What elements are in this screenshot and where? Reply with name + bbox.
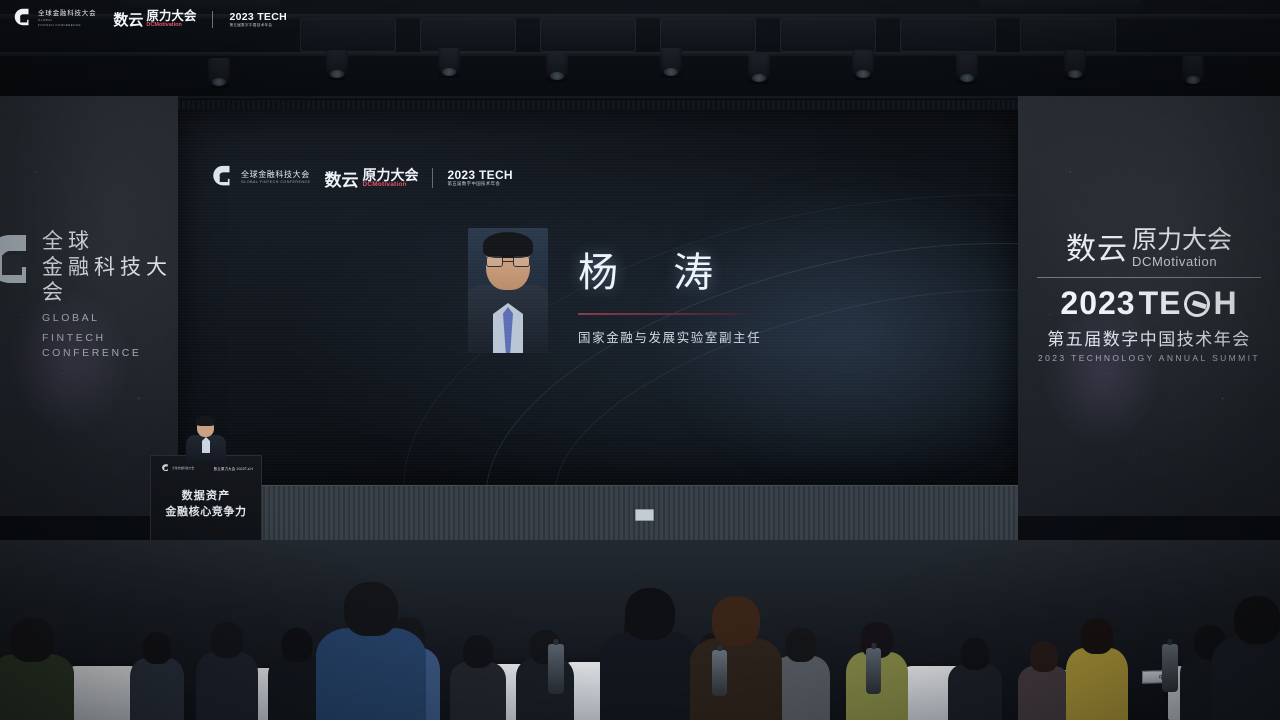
audience-member [516, 636, 574, 720]
stage-light-icon [748, 54, 770, 84]
audience-member-foreground [600, 608, 700, 720]
left-wall-en-line1: GLOBAL [42, 311, 174, 326]
screen-tech-logo: 2023 TECH 第五届数字中国技术年会 [447, 169, 512, 187]
audience-member-foreground [316, 602, 426, 720]
audience-member [450, 640, 506, 720]
audience-member [1066, 624, 1128, 720]
left-wall-en-line2: FINTECH CONFERENCE [42, 331, 174, 361]
screen-event-cn-b: 原力大会 [362, 168, 418, 182]
audience-member [948, 642, 1002, 720]
event-logo-cn-primary: 数云 [1066, 224, 1128, 268]
podium-logo-row: 全球金融科技大会 数云原力大会 2023T∠H [161, 464, 253, 473]
event-logo-en: DCMotivation [1132, 255, 1232, 268]
starfield-texture [0, 96, 178, 516]
stage-light-icon [660, 48, 682, 78]
presenter-at-podium [186, 418, 226, 462]
power-outlet-icon [635, 509, 654, 521]
podium-title-line2: 金融核心竞争力 [151, 505, 261, 521]
speaker-name: 杨 涛 [578, 240, 908, 298]
audience-member-foreground [0, 642, 74, 720]
podium-logo-left-label: 全球金融科技大会 [172, 467, 194, 470]
screen-gfc-logo: 全球金融科技大会 GLOBAL FINTECH CONFERENCE [210, 165, 310, 191]
event-logo-cn-secondary: 原力大会 [1132, 228, 1232, 253]
summit-en-label: 2023 TECHNOLOGY ANNUAL SUMMIT [1024, 353, 1274, 363]
screen-logo-bar: 全球金融科技大会 GLOBAL FINTECH CONFERENCE 数云 原力… [210, 165, 513, 191]
stage-light-icon [956, 54, 978, 84]
nebula-graphic [10, 286, 130, 436]
stage-light-icon [546, 52, 568, 82]
audience-member-foreground [690, 616, 782, 720]
portrait-hair [483, 232, 533, 258]
screen-gfc-en: GLOBAL FINTECH CONFERENCE [241, 181, 310, 185]
stage-light-icon [326, 50, 348, 80]
main-led-screen: 全球金融科技大会 GLOBAL FINTECH CONFERENCE 数云 原力… [178, 110, 1018, 485]
glasses-icon [486, 256, 530, 267]
header-gfc-en1: GLOBAL [38, 19, 96, 22]
global-fintech-conference-mark [12, 8, 34, 30]
header-event-cn-primary: 数云 [113, 9, 143, 30]
speaker-info-block: 杨 涛 国家金融与发展实验室副主任 [578, 240, 908, 346]
stage-skirt [178, 485, 1018, 541]
speaker-title: 国家金融与发展实验室副主任 [578, 327, 908, 346]
global-fintech-conference-mark [161, 464, 170, 473]
left-wall-cn-line1: 全球 [42, 229, 174, 255]
global-fintech-conference-mark [210, 165, 236, 191]
header-tech-sub: 第五届数字中国技术年会 [229, 23, 287, 27]
screen-gfc-cn: 全球金融科技大会 [241, 171, 310, 180]
screen-tech-sub: 第五届数字中国技术年会 [447, 182, 512, 187]
stage-light-icon [1182, 56, 1204, 86]
nebula-graphic [1042, 296, 1162, 446]
right-wall: 数云 原力大会 DCMotivation 2023 TE H 第五届数字中国技术… [1018, 96, 1280, 516]
conference-stage-scene: 全球 金融科技大会 GLOBAL FINTECH CONFERENCE 数云 原… [0, 0, 1280, 720]
signage-divider [1037, 277, 1261, 278]
left-wall: 全球 金融科技大会 GLOBAL FINTECH CONFERENCE [0, 96, 178, 516]
speaker-divider [578, 313, 756, 315]
left-wall-cn-line2: 金融科技大会 [42, 255, 174, 306]
podium-title: 数据资产 金融核心竞争力 [151, 489, 261, 521]
event-logo: 数云 原力大会 DCMotivation [1024, 224, 1274, 268]
screen-event-logo: 数云 原力大会 DCMotivation [324, 166, 418, 191]
tech-word-a: TE [1139, 285, 1182, 322]
water-bottle-icon [548, 644, 564, 694]
stage-light-icon [438, 48, 460, 78]
audience-member [196, 628, 258, 720]
presenter-hair [196, 416, 215, 426]
header-gfc-cn: 全球金融科技大会 [38, 10, 96, 17]
header-tech-title: 2023 TECH [229, 11, 287, 23]
header-gfc-en2: FINTECH CONFERENCE [38, 24, 96, 27]
header-event-cn-secondary: 原力大会 [146, 10, 196, 23]
header-tech-logo: 2023 TECH 第五届数字中国技术年会 [229, 11, 287, 27]
right-wall-signage: 数云 原力大会 DCMotivation 2023 TE H 第五届数字中国技术… [1024, 224, 1274, 363]
stage-light-icon [852, 50, 874, 80]
tech-word-b: H [1213, 285, 1237, 322]
header-event-en: DCMotivation [146, 23, 196, 29]
stage-light-icon [208, 58, 230, 88]
truss-bar [0, 52, 1280, 56]
podium-logo-right-label: 数云原力大会 2023T∠H [214, 466, 253, 471]
screen-event-cn-a: 数云 [324, 166, 358, 191]
at-loop-icon [1181, 287, 1214, 320]
tech-title-row: 2023 TE H [1024, 285, 1274, 322]
header-gfc-logo: 全球金融科技大会 GLOBAL FINTECH CONFERENCE [12, 8, 96, 30]
tech-year: 2023 [1060, 285, 1135, 322]
header-event-logo: 数云 原力大会 DCMotivation [113, 9, 196, 30]
header-divider [212, 11, 213, 28]
speaker-portrait [468, 228, 548, 353]
broadcast-header-overlay: 全球金融科技大会 GLOBAL FINTECH CONFERENCE 数云 原力… [0, 0, 1280, 38]
water-bottle-icon [866, 648, 881, 694]
left-wall-signage: 全球 金融科技大会 GLOBAL FINTECH CONFERENCE [6, 229, 174, 361]
water-bottle-icon [1162, 644, 1178, 692]
audience-area: 中国民生银行 中国进出口银行 中信银行 [0, 540, 1280, 720]
starfield-texture [1018, 96, 1280, 516]
stage-light-icon [1064, 50, 1086, 80]
audience-member [1018, 646, 1070, 720]
podium-title-line1: 数据资产 [151, 489, 261, 505]
screen-logo-divider [432, 168, 433, 188]
audience-member-foreground [1212, 614, 1280, 720]
summit-cn-label: 第五届数字中国技术年会 [1024, 325, 1274, 350]
audience-member [130, 638, 184, 720]
global-fintech-conference-mark [0, 233, 36, 297]
water-bottle-icon [712, 650, 727, 696]
